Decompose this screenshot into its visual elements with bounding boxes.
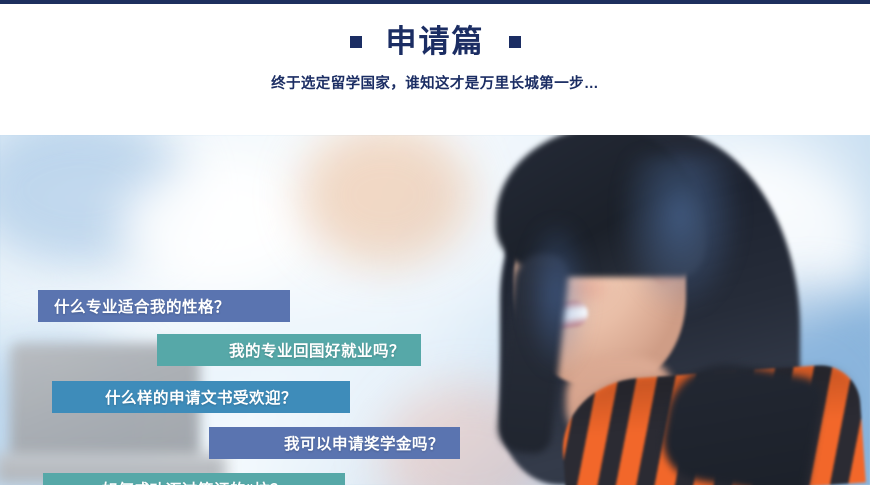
hero-photo-banner: 什么专业适合我的性格？我的专业回国好就业吗？什么样的申请文书受欢迎？我可以申请奖… [0, 135, 870, 485]
portrait-hair-highlight [512, 225, 602, 425]
background-blur-blob [120, 165, 310, 285]
square-bullet-left-icon [350, 36, 362, 48]
portrait-hair-highlight [620, 155, 770, 395]
page-title: 申请篇 [386, 26, 485, 57]
bubble-major-personality[interactable]: 什么专业适合我的性格？ [38, 290, 290, 322]
promo-banner-page: 申请篇 终于选定留学国家，谁知这才是万里长城第一步… [0, 0, 870, 485]
bubble-scholarship[interactable]: 我可以申请奖学金吗？ [209, 427, 460, 459]
title-row: 申请篇 [350, 26, 521, 57]
page-subtitle: 终于选定留学国家，谁知这才是万里长城第一步… [271, 72, 599, 93]
bubble-visa-pitfalls[interactable]: 如何成功迈过签证的“坑？ [43, 473, 345, 485]
student-portrait [470, 135, 870, 485]
bubble-application-docs[interactable]: 什么样的申请文书受欢迎？ [52, 381, 350, 413]
square-bullet-right-icon [509, 36, 521, 48]
bubble-major-employment[interactable]: 我的专业回国好就业吗？ [157, 334, 421, 366]
page-header: 申请篇 终于选定留学国家，谁知这才是万里长城第一步… [0, 4, 870, 135]
